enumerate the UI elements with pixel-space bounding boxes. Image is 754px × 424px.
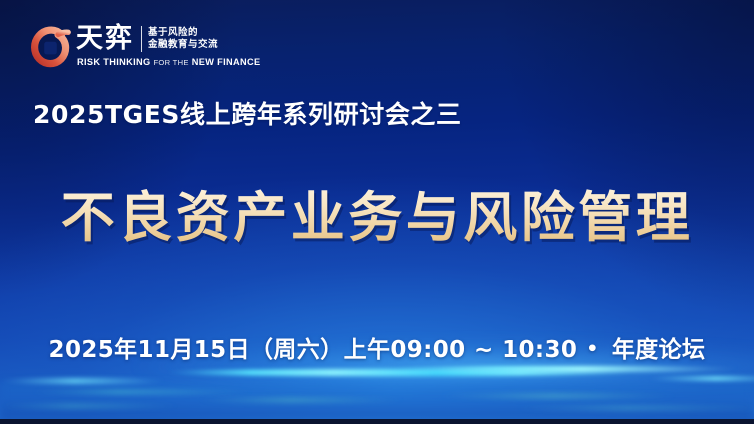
logo-tagline: 基于风险的 金融教育与交流 bbox=[148, 27, 218, 51]
tianyi-spiral-mark-icon bbox=[31, 25, 71, 69]
event-meta: 2025年11月15日（周六）上午09:00 ~ 10:30•年度论坛 bbox=[0, 330, 754, 364]
event-type: 年度论坛 bbox=[612, 337, 706, 363]
brand-name-cn: 天弈 bbox=[76, 24, 134, 54]
logo-slogan-en: RISK THINKING FOR THE NEW FINANCE bbox=[76, 57, 260, 67]
logo-primary-row: 天弈 基于风险的 金融教育与交流 bbox=[76, 24, 260, 54]
brand-logo: 天弈 基于风险的 金融教育与交流 RISK THINKING FOR THE N… bbox=[31, 24, 260, 69]
light-streak-soft-5 bbox=[513, 406, 754, 410]
logo-tagline-line-1: 基于风险的 bbox=[148, 27, 218, 39]
title-container: 不良资产业务与风险管理 bbox=[0, 186, 754, 250]
light-streak-left bbox=[0, 378, 166, 384]
page-title: 不良资产业务与风险管理 bbox=[61, 186, 694, 250]
light-streak-soft-2 bbox=[196, 398, 407, 402]
logo-tagline-line-2: 金融教育与交流 bbox=[148, 39, 218, 51]
logo-slogan-mid: FOR THE bbox=[153, 58, 188, 67]
light-streak-soft-3 bbox=[437, 394, 678, 398]
light-streak-secondary bbox=[392, 366, 739, 372]
meta-separator: • bbox=[586, 338, 599, 360]
bottom-edge-bar bbox=[0, 419, 754, 424]
logo-divider bbox=[141, 26, 142, 52]
webinar-poster: 天弈 基于风险的 金融教育与交流 RISK THINKING FOR THE N… bbox=[0, 0, 754, 424]
series-label: 2025TGES线上跨年系列研讨会之三 bbox=[33, 95, 462, 131]
logo-slogan-lead: RISK THINKING bbox=[77, 57, 150, 67]
light-streak-soft-4 bbox=[0, 404, 181, 408]
light-streak-right bbox=[648, 376, 754, 381]
light-streak-soft-1 bbox=[30, 390, 256, 394]
light-streak-primary bbox=[166, 369, 633, 376]
background-haze bbox=[0, 382, 754, 420]
logo-text-block: 天弈 基于风险的 金融教育与交流 RISK THINKING FOR THE N… bbox=[76, 24, 260, 67]
corner-vignette-right bbox=[494, 0, 754, 320]
logo-slogan-tail: NEW FINANCE bbox=[192, 57, 261, 67]
event-datetime: 2025年11月15日（周六）上午09:00 ~ 10:30 bbox=[49, 337, 578, 363]
